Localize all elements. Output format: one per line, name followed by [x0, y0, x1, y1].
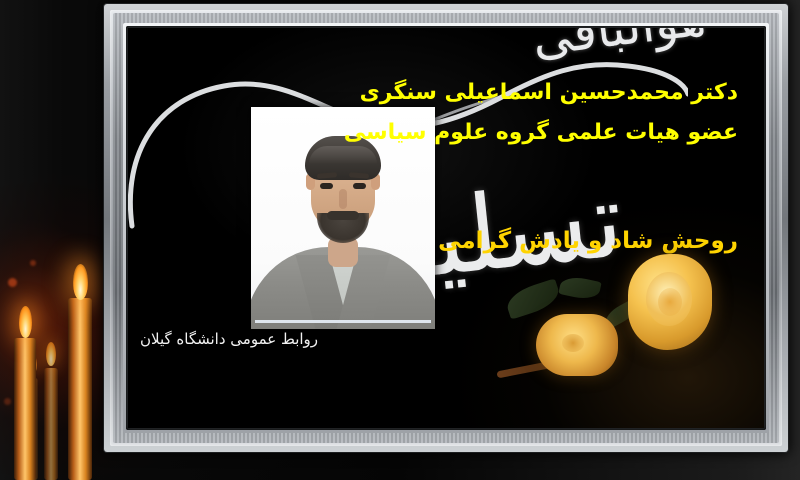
condolence-line: روحش شاد و یادش گرامی	[438, 228, 738, 254]
leaf-icon	[602, 299, 640, 329]
memorial-poster: هوالباقی تسلیت	[0, 0, 800, 480]
photo-bottom-edge	[255, 320, 431, 323]
photo-moustache	[327, 211, 359, 220]
rose-icon	[536, 314, 618, 376]
publisher-credit: روابط عمومی دانشگاه گیلان	[140, 330, 318, 348]
photo-eye-right	[353, 183, 366, 189]
rose-icon	[628, 254, 712, 350]
top-calligraphy-text: هوالباقی	[529, 28, 708, 67]
rose-stem	[496, 349, 615, 379]
poster-canvas: هوالباقی تسلیت	[128, 28, 764, 428]
deceased-title-line: عضو هیات علمی گروه علوم سیاسی	[344, 120, 738, 145]
photo-eye-left	[320, 183, 333, 189]
deceased-name-line: دکتر محمدحسین اسماعیلی سنگری	[360, 80, 738, 105]
photo-nose	[339, 189, 347, 209]
